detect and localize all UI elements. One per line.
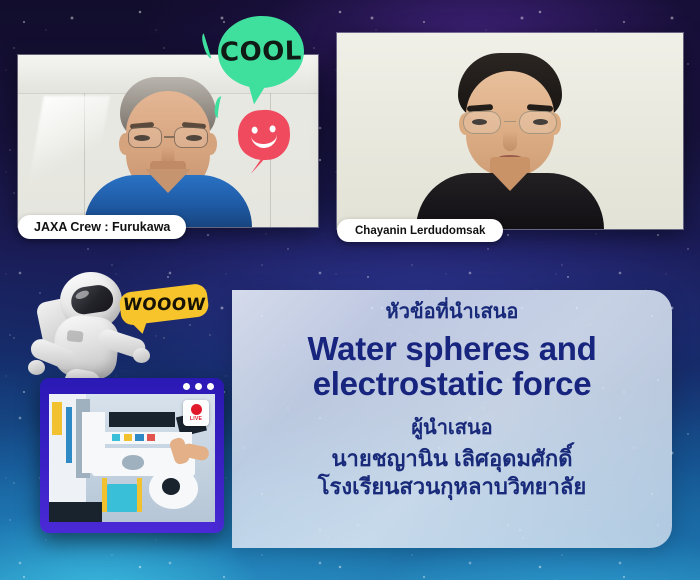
broadcast-overlay-stage: JAXA Crew : Furukawa Chayanin Lerdudomsa… bbox=[0, 0, 700, 580]
live-label: LIVE bbox=[190, 416, 202, 422]
window-dot-3[interactable] bbox=[207, 383, 214, 390]
presenter-name: นายชญานิน เลิศอุดมศักดิ์ bbox=[331, 445, 572, 474]
participant-furukawa-avatar bbox=[83, 77, 253, 227]
window-control-dots[interactable] bbox=[183, 383, 214, 390]
presentation-title-line-2: electrostatic force bbox=[313, 366, 592, 401]
eyeglasses-icon bbox=[120, 127, 216, 149]
window-dot-1[interactable] bbox=[183, 383, 190, 390]
presentation-title-line-1: Water spheres and bbox=[308, 331, 597, 366]
wooow-bubble-label: WOOOW bbox=[122, 295, 206, 315]
participant-chayanin-avatar bbox=[415, 53, 605, 229]
iss-live-video-window[interactable]: LIVE bbox=[40, 378, 224, 533]
astronaut-glove-left bbox=[28, 360, 45, 375]
window-dot-2[interactable] bbox=[195, 383, 202, 390]
live-indicator-badge: LIVE bbox=[183, 400, 209, 426]
presenter-school: โรงเรียนสวนกุหลาบวิทยาลัย bbox=[318, 473, 587, 502]
astronaut-glove-right bbox=[133, 348, 150, 363]
topic-label: หัวข้อที่นำเสนอ bbox=[386, 300, 519, 325]
presenter-label: ผู้นำเสนอ bbox=[411, 416, 492, 441]
name-badge-student: Chayanin Lerdudomsak bbox=[337, 219, 503, 242]
record-dot-icon bbox=[191, 404, 202, 415]
cool-bubble-label: COOL bbox=[220, 36, 302, 67]
name-badge-jaxa-crew: JAXA Crew : Furukawa bbox=[18, 215, 186, 239]
iss-video-feed: LIVE bbox=[49, 394, 215, 522]
video-panel-student[interactable] bbox=[337, 33, 683, 229]
presentation-info-card: หัวข้อที่นำเสนอ Water spheres and electr… bbox=[232, 290, 672, 548]
